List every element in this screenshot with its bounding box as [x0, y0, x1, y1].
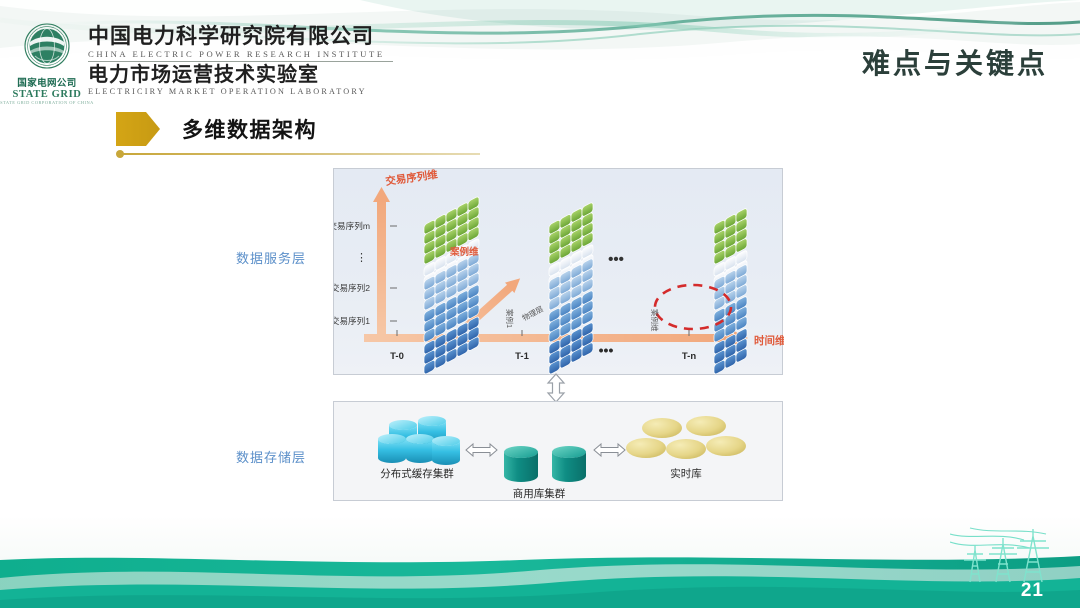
double-arrow-vertical-icon: [540, 372, 572, 404]
y-axis-tick-2: 交易序列2: [334, 282, 370, 293]
data-service-layer-panel: 交易序列维 交易序列m ⋮ 交易序列2 交易序列1 时间维 T-0 T-1 ••…: [333, 168, 783, 375]
group-ellipsis: •••: [608, 251, 624, 268]
logo-label-en: STATE GRID: [13, 89, 82, 100]
logo-label-en-sub: STATE GRID CORPORATION OF CHINA: [0, 100, 94, 105]
yellow-disc-cluster-icon: [626, 416, 746, 459]
data-storage-layer-panel: 分布式缓存集群 商用库集群 实时库: [333, 401, 783, 501]
org-name-cn: 中国电力科学研究院有限公司: [88, 26, 508, 48]
slide-header: 国家电网公司 STATE GRID STATE GRID CORPORATION…: [0, 18, 1080, 110]
inline-label-physical: 物理层: [520, 303, 545, 323]
lab-name-en: ELECTRICIRY MARKET OPERATION LABORATORY: [88, 87, 508, 96]
data-storage-layer-label: 数据存储层: [236, 447, 306, 466]
y-axis-ellipsis: ⋮: [356, 252, 367, 264]
lab-name-cn: 电力市场运营技术实验室: [88, 65, 508, 86]
x-axis-tick-t0: T-0: [390, 351, 404, 362]
storage-cluster-diagram: 分布式缓存集群 商用库集群 实时库: [334, 402, 784, 502]
y-axis-tick-m: 交易序列m: [334, 220, 370, 231]
inline-label-case-dim: 案例维: [650, 309, 660, 332]
storage-node-label-cache: 分布式缓存集群: [380, 467, 454, 480]
transmission-towers-icon: [950, 524, 1062, 586]
double-arrow-horizontal-icon-2: [594, 444, 625, 456]
y-axis-tick-1: 交易序列1: [334, 315, 370, 326]
x-axis-tick-tn: T-n: [682, 351, 696, 362]
x-axis-title: 时间维: [754, 334, 784, 347]
org-name-en: CHINA ELECTRIC POWER RESEARCH INSTITUTE: [88, 49, 508, 59]
data-service-layer-label: 数据服务层: [236, 248, 306, 267]
bottom-decorative-band: [0, 516, 1080, 608]
state-grid-globe-logo-icon: [21, 22, 73, 74]
x-axis-tick-t1: T-1: [515, 351, 529, 362]
storage-node-label-commercial: 商用库集群: [513, 487, 566, 500]
bottom-wave-graphic: [0, 516, 1080, 608]
logo-label-cn: 国家电网公司: [17, 75, 76, 89]
double-arrow-horizontal-icon-1: [466, 444, 497, 456]
pentagon-arrow-icon: [116, 112, 160, 146]
storage-node-label-realtime: 实时库: [670, 467, 702, 480]
slide-topic-title: 难点与关键点: [862, 42, 1048, 82]
teal-database-cylinder-icon: [504, 446, 586, 482]
header-divider: [88, 61, 393, 62]
y-axis-title: 交易序列维: [385, 169, 439, 188]
organization-block: 中国电力科学研究院有限公司 CHINA ELECTRIC POWER RESEA…: [88, 26, 508, 96]
layer-connector: [540, 372, 572, 404]
section-heading: 多维数据架构: [116, 108, 986, 155]
section-title-text: 多维数据架构: [182, 114, 317, 144]
x-axis-ellipsis: •••: [599, 342, 614, 358]
service-panel-text-layer: 交易序列维 交易序列m ⋮ 交易序列2 交易序列1 时间维 T-0 T-1 ••…: [334, 169, 784, 376]
cyan-database-cluster-icon: [378, 416, 460, 465]
page-number: 21: [1021, 580, 1044, 602]
inline-label-case1: 案例1: [505, 309, 515, 328]
state-grid-logo: 国家电网公司 STATE GRID STATE GRID CORPORATION…: [8, 22, 86, 108]
section-underline: [120, 153, 480, 155]
diagonal-axis-title: 案例维: [449, 246, 479, 258]
